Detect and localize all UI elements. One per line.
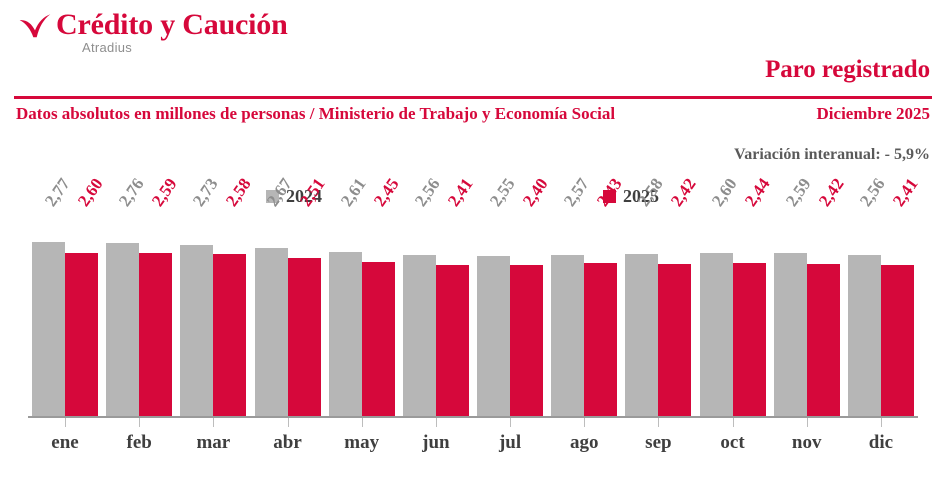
bar-rect	[403, 255, 436, 416]
x-tick-cell	[28, 418, 102, 428]
x-tick-mark	[807, 418, 808, 427]
x-axis-labels: enefebmarabrmayjunjulagosepoctnovdic	[28, 432, 918, 454]
x-axis-label-feb: feb	[102, 432, 176, 454]
x-tick-mark	[584, 418, 585, 427]
x-tick-mark	[510, 418, 511, 427]
year-over-year-variation: Variación interanual: - 5,9%	[734, 146, 930, 164]
bar-group: 2,552,40	[473, 212, 547, 416]
bar-2025-nov[interactable]: 2,42	[807, 212, 840, 416]
x-tick-cell	[399, 418, 473, 428]
x-tick-mark	[436, 418, 437, 427]
bar-group: 2,562,41	[844, 212, 918, 416]
bar-rect	[658, 264, 691, 416]
bar-2025-sep[interactable]: 2,42	[658, 212, 691, 416]
x-axis-label-oct: oct	[696, 432, 770, 454]
header-divider	[14, 96, 932, 99]
bar-rect	[733, 263, 766, 416]
x-tick-cell	[696, 418, 770, 428]
bar-group: 2,672,51	[251, 212, 325, 416]
x-tick-cell	[770, 418, 844, 428]
bar-rect	[255, 248, 288, 416]
x-axis-label-mar: mar	[176, 432, 250, 454]
bar-rect	[329, 252, 362, 416]
page-header: Crédito y Caución Atradius Paro registra…	[0, 0, 946, 92]
bar-group: 2,562,41	[399, 212, 473, 416]
x-axis-label-sep: sep	[621, 432, 695, 454]
x-axis-label-may: may	[325, 432, 399, 454]
bar-2024-ene[interactable]: 2,77	[32, 212, 65, 416]
x-tick-cell	[473, 418, 547, 428]
bar-group: 2,772,60	[28, 212, 102, 416]
bar-chart: 2,772,602,762,592,732,582,672,512,612,45…	[0, 212, 946, 484]
brand-name: Crédito y Caución	[56, 6, 288, 44]
x-axis-label-nov: nov	[770, 432, 844, 454]
bar-2024-nov[interactable]: 2,59	[774, 212, 807, 416]
x-axis-label-jul: jul	[473, 432, 547, 454]
bar-rect	[700, 253, 733, 416]
bar-rect	[362, 262, 395, 416]
x-tick-mark	[213, 418, 214, 427]
x-tick-mark	[139, 418, 140, 427]
brand-tagline: Atradius	[82, 40, 288, 55]
x-tick-mark	[288, 418, 289, 427]
bar-group: 2,582,42	[621, 212, 695, 416]
bar-2025-feb[interactable]: 2,59	[139, 212, 172, 416]
bar-rect	[477, 256, 510, 416]
bar-rect	[139, 253, 172, 416]
bar-2025-ago[interactable]: 2,43	[584, 212, 617, 416]
x-tick-cell	[621, 418, 695, 428]
x-tick-cell	[102, 418, 176, 428]
bar-rect	[584, 263, 617, 416]
x-tick-mark	[881, 418, 882, 427]
bar-2025-oct[interactable]: 2,44	[733, 212, 766, 416]
bar-rect	[848, 255, 881, 416]
bar-rect	[551, 255, 584, 416]
bar-group: 2,572,43	[547, 212, 621, 416]
x-tick-cell	[547, 418, 621, 428]
page-title: Paro registrado	[765, 56, 930, 84]
bar-2025-jul[interactable]: 2,40	[510, 212, 543, 416]
x-axis-label-dic: dic	[844, 432, 918, 454]
x-axis-label-ago: ago	[547, 432, 621, 454]
x-axis-label-abr: abr	[251, 432, 325, 454]
bar-rect	[32, 242, 65, 416]
x-tick-cell	[176, 418, 250, 428]
bar-2025-abr[interactable]: 2,51	[288, 212, 321, 416]
x-axis-ticks	[28, 418, 918, 428]
x-tick-mark	[65, 418, 66, 427]
x-axis-label-jun: jun	[399, 432, 473, 454]
bar-2025-ene[interactable]: 2,60	[65, 212, 98, 416]
bar-rect	[180, 245, 213, 416]
bar-2024-oct[interactable]: 2,60	[700, 212, 733, 416]
bar-rect	[288, 258, 321, 416]
bar-2024-jul[interactable]: 2,55	[477, 212, 510, 416]
bar-group: 2,602,44	[696, 212, 770, 416]
x-tick-cell	[844, 418, 918, 428]
chart-source-note: Datos absolutos en millones de personas …	[16, 104, 615, 124]
bar-2024-mar[interactable]: 2,73	[180, 212, 213, 416]
bar-rect	[65, 253, 98, 416]
bar-2025-jun[interactable]: 2,41	[436, 212, 469, 416]
bar-rect	[213, 254, 246, 416]
bar-2024-may[interactable]: 2,61	[329, 212, 362, 416]
x-tick-mark	[362, 418, 363, 427]
bar-rect	[774, 253, 807, 416]
x-tick-cell	[251, 418, 325, 428]
x-axis-label-ene: ene	[28, 432, 102, 454]
bar-rect	[881, 265, 914, 416]
bar-2024-abr[interactable]: 2,67	[255, 212, 288, 416]
bar-2025-may[interactable]: 2,45	[362, 212, 395, 416]
chart-plot-area: 2,772,602,762,592,732,582,672,512,612,45…	[28, 212, 918, 416]
bar-2024-ago[interactable]: 2,57	[551, 212, 584, 416]
bar-group: 2,612,45	[325, 212, 399, 416]
bar-rect	[625, 254, 658, 416]
bar-2024-dic[interactable]: 2,56	[848, 212, 881, 416]
bar-2024-sep[interactable]: 2,58	[625, 212, 658, 416]
bar-group: 2,762,59	[102, 212, 176, 416]
bar-rect	[510, 265, 543, 416]
bar-rect	[807, 264, 840, 416]
bar-2024-jun[interactable]: 2,56	[403, 212, 436, 416]
subtitle-row: Datos absolutos en millones de personas …	[0, 104, 946, 130]
bar-group: 2,592,42	[770, 212, 844, 416]
bar-group: 2,732,58	[176, 212, 250, 416]
bar-rect	[436, 265, 469, 416]
x-tick-mark	[658, 418, 659, 427]
bar-2025-dic[interactable]: 2,41	[881, 212, 914, 416]
bar-rect	[106, 243, 139, 416]
brand-logo: Crédito y Caución Atradius	[18, 6, 288, 55]
x-tick-mark	[733, 418, 734, 427]
bar-2024-feb[interactable]: 2,76	[106, 212, 139, 416]
x-tick-cell	[325, 418, 399, 428]
checkmark-swoosh-icon	[18, 10, 52, 44]
bar-2025-mar[interactable]: 2,58	[213, 212, 246, 416]
report-period: Diciembre 2025	[817, 104, 930, 124]
